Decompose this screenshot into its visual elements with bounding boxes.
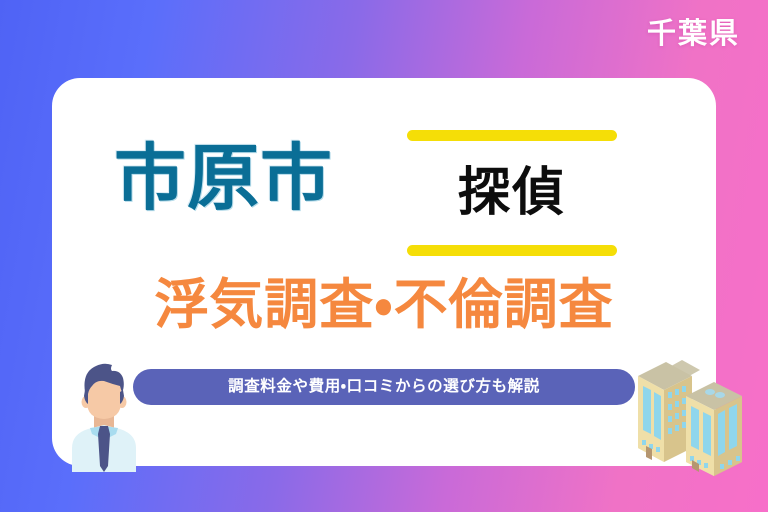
prefecture-label: 千葉県 bbox=[647, 16, 740, 51]
subtitle-banner: 調査料金や費用・口コミからの選び方も解説 bbox=[133, 369, 635, 405]
headline-row: 市原市 探偵 bbox=[52, 130, 716, 260]
keyword-box: 探偵 bbox=[407, 130, 617, 256]
businessman-illustration bbox=[62, 362, 146, 472]
content-card: 市原市 探偵 浮気調査・不倫調査 調査料金や費用・口コミからの選び方も解説 bbox=[52, 78, 716, 466]
office-buildings-illustration bbox=[630, 334, 760, 484]
keyword-rule-bottom bbox=[407, 245, 617, 256]
keyword-rule-top bbox=[407, 130, 617, 141]
subject-heading: 浮気調査・不倫調査 bbox=[52, 274, 716, 336]
city-name: 市原市 bbox=[114, 138, 333, 219]
hero-banner: 千葉県 市原市 探偵 浮気調査・不倫調査 調査料金や費用・口コミからの選び方も解… bbox=[0, 0, 768, 512]
subtitle-banner-text: 調査料金や費用・口コミからの選び方も解説 bbox=[228, 379, 540, 395]
keyword-label: 探偵 bbox=[407, 167, 617, 219]
